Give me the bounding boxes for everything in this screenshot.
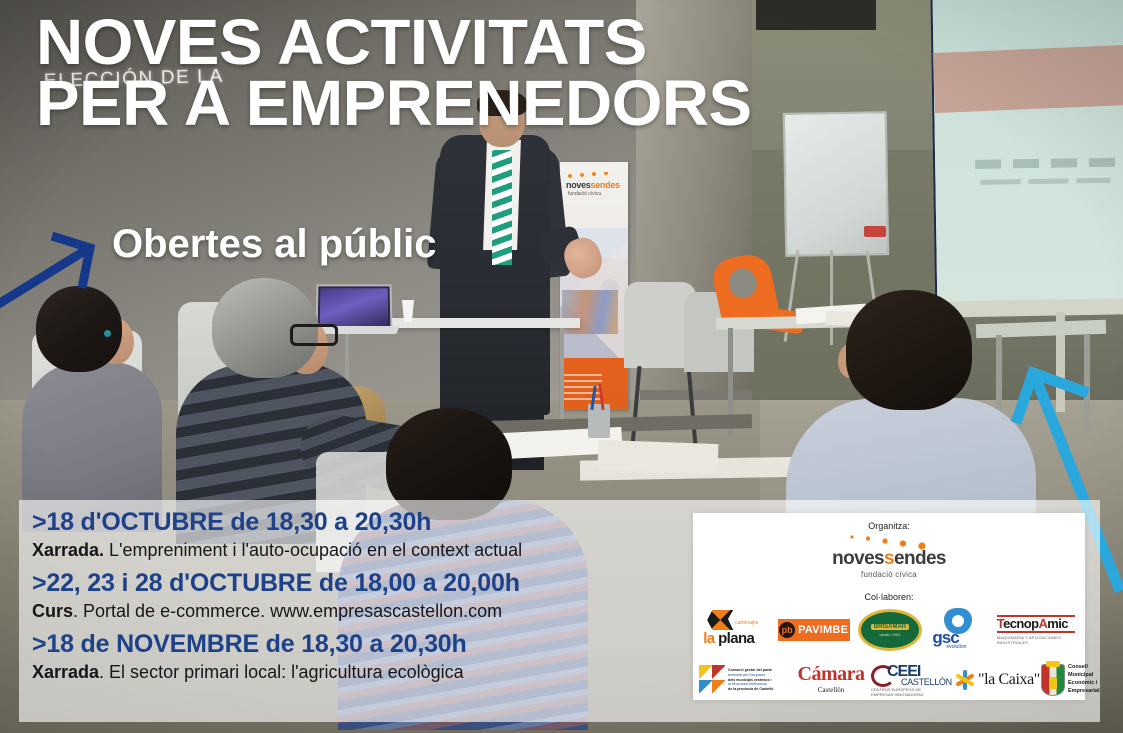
presenter-striped-tie: [492, 150, 512, 265]
logo-camara: Cámara Castellón: [791, 658, 871, 702]
event-type: Xarrada: [32, 662, 99, 682]
consell-text: Consell Municipal Econòmic i Empresarial: [1068, 664, 1100, 696]
novessendes-tagline: fundació cívica: [693, 570, 1085, 579]
event-item: >18 d'OCTUBRE de 18,30 a 20,30h Xarrada.…: [32, 508, 692, 561]
projection-screen: [932, 0, 1123, 316]
la-plana-wordmark: la plana: [703, 630, 754, 647]
camara-city: Castellón: [791, 686, 871, 694]
rollup-banner-tagline: fundació cívica: [568, 191, 601, 197]
la-caixa-star-icon: [955, 670, 975, 690]
logo-consell-municipal: Consell Municipal Econòmic i Empresarial: [1041, 658, 1123, 702]
tecnopamic-mid: ecnop: [1003, 616, 1038, 631]
event-item: >18 de NOVEMBRE de 18,30 a 20,30h Xarrad…: [32, 630, 692, 683]
la-plana-word-a: la: [703, 630, 714, 647]
la-plana-word-b: plana: [718, 630, 754, 647]
brand-suffix: endes: [894, 548, 946, 569]
logo-pavimbe: pb PAVIMBE: [778, 608, 850, 652]
flipchart-red-tab: [864, 226, 886, 237]
rollup-banner-brand: novessendes: [566, 180, 620, 190]
event-heading: >18 de NOVEMBRE de 18,30 a 20,30h: [32, 630, 692, 660]
logo-ceei: CEEI CASTELLÓN CENTROS EUROPEOS DE EMPRE…: [871, 658, 955, 702]
earring: [104, 330, 111, 337]
event-description: Curs. Portal de e-commerce. www.empresas…: [32, 600, 692, 623]
la-caixa-wordmark: "la Caixa": [978, 671, 1040, 689]
laptop-screen: [320, 288, 389, 328]
consorci-mark-icon: [699, 665, 725, 695]
logo-tecnopamic: TecnopAmic MAQUINARIA Y APLICACIONES IND…: [997, 608, 1075, 652]
consell-line-2: Municipal: [1068, 672, 1100, 680]
page-subtitle: Obertes al públic: [112, 222, 437, 267]
title-line-2: PER A EMPRENEDORS: [36, 73, 752, 134]
ceei-sub-2: EMPRESAS INNOVADORAS: [871, 692, 924, 697]
logo-la-plana: cartonajes la plana: [703, 608, 769, 652]
event-type: Xarrada.: [32, 540, 104, 560]
novessendes-wordmark: novessendes: [693, 548, 1085, 570]
event-detail: . El sector primari local: l'agricultura…: [99, 662, 464, 682]
page-title: NOVES ACTIVITATS PER A EMPRENEDORS: [36, 12, 752, 135]
event-heading: >18 d'OCTUBRE de 18,30 a 20,30h: [32, 508, 692, 538]
event-list: >18 d'OCTUBRE de 18,30 a 20,30h Xarrada.…: [32, 508, 692, 691]
logo-la-caixa: "la Caixa": [955, 658, 1041, 702]
consell-line-4: Empresarial: [1068, 688, 1100, 696]
eyeglasses: [290, 324, 338, 346]
poster: ELECCIÓN DE LA novessendes fundació cívi…: [0, 0, 1123, 733]
slide-banner-bar: [933, 45, 1123, 113]
front-desk-leg: [560, 328, 564, 424]
pavimbe-badge: pb: [779, 622, 795, 638]
coat-of-arms-icon: [1041, 664, 1065, 696]
brisamar-wordmark: BRISAMAR: [871, 624, 909, 630]
logo-brisamar: BRISAMAR desde 1964: [858, 608, 922, 652]
brand-prefix: noves: [832, 548, 884, 569]
rollup-banner-dots: [566, 172, 620, 180]
ceiling-shadow: [756, 0, 876, 30]
tecnopamic-wordmark: TecnopAmic: [997, 615, 1075, 633]
la-plana-kicker: cartonajes: [735, 620, 758, 626]
consell-line-3: Econòmic i: [1068, 680, 1100, 688]
consorci-line-5: de la província de Castelló: [728, 687, 773, 692]
event-type: Curs: [32, 601, 73, 621]
camara-wordmark: Cámara: [791, 663, 871, 686]
gsc-sub: evolution: [946, 644, 966, 650]
event-description: Xarrada. L'empreniment i l'auto-ocupació…: [32, 539, 692, 562]
collaborators-row-1: cartonajes la plana pb PAVIMBE BRISAMAR …: [693, 608, 1085, 652]
consorci-text: Consorci gestor del pacte territorial pe…: [728, 668, 773, 692]
ceei-sub: CENTROS EUROPEOS DE EMPRESAS INNOVADORAS: [871, 687, 924, 697]
event-heading: >22, 23 i 28 d'OCTUBRE de 18,00 a 20,00h: [32, 569, 692, 599]
la-plana-mark-icon: [707, 610, 733, 630]
novessendes-logo: novessendes fundació cívica: [693, 534, 1085, 574]
logo-gsc: gsc evolution: [930, 608, 988, 652]
event-item: >22, 23 i 28 d'OCTUBRE de 18,00 a 20,00h…: [32, 569, 692, 622]
ceei-city: CASTELLÓN: [901, 677, 952, 687]
brisamar-since: desde 1964: [880, 632, 901, 637]
organiser-label: Organitza:: [693, 521, 1085, 531]
event-detail: L'empreniment i l'auto-ocupació en el co…: [104, 540, 522, 560]
event-detail: . Portal de e-commerce. www.empresascast…: [73, 601, 502, 621]
consell-line-1: Consell: [1068, 664, 1100, 672]
brand-accent: s: [884, 548, 894, 569]
logo-consorci: Consorci gestor del pacte territorial pe…: [699, 658, 791, 702]
arrow-left-icon: [0, 222, 120, 312]
sponsor-panel: Organitza: novessendes fundació cívica C…: [693, 513, 1085, 700]
tecnopamic-sub: MAQUINARIA Y APLICACIONES INDUSTRIALES: [997, 635, 1075, 645]
pavimbe-wordmark: PAVIMBE: [798, 624, 848, 636]
tecnopamic-a: A: [1038, 616, 1047, 631]
collaborators-row-2: Consorci gestor del pacte territorial pe…: [693, 658, 1085, 702]
handout-paper: [598, 440, 719, 474]
collaborators-label: Col·laboren:: [693, 592, 1085, 602]
flipchart-leg: [830, 250, 833, 345]
event-description: Xarrada. El sector primari local: l'agri…: [32, 661, 692, 684]
tecnopamic-end: mic: [1047, 616, 1068, 631]
attendee-head: [846, 290, 972, 410]
